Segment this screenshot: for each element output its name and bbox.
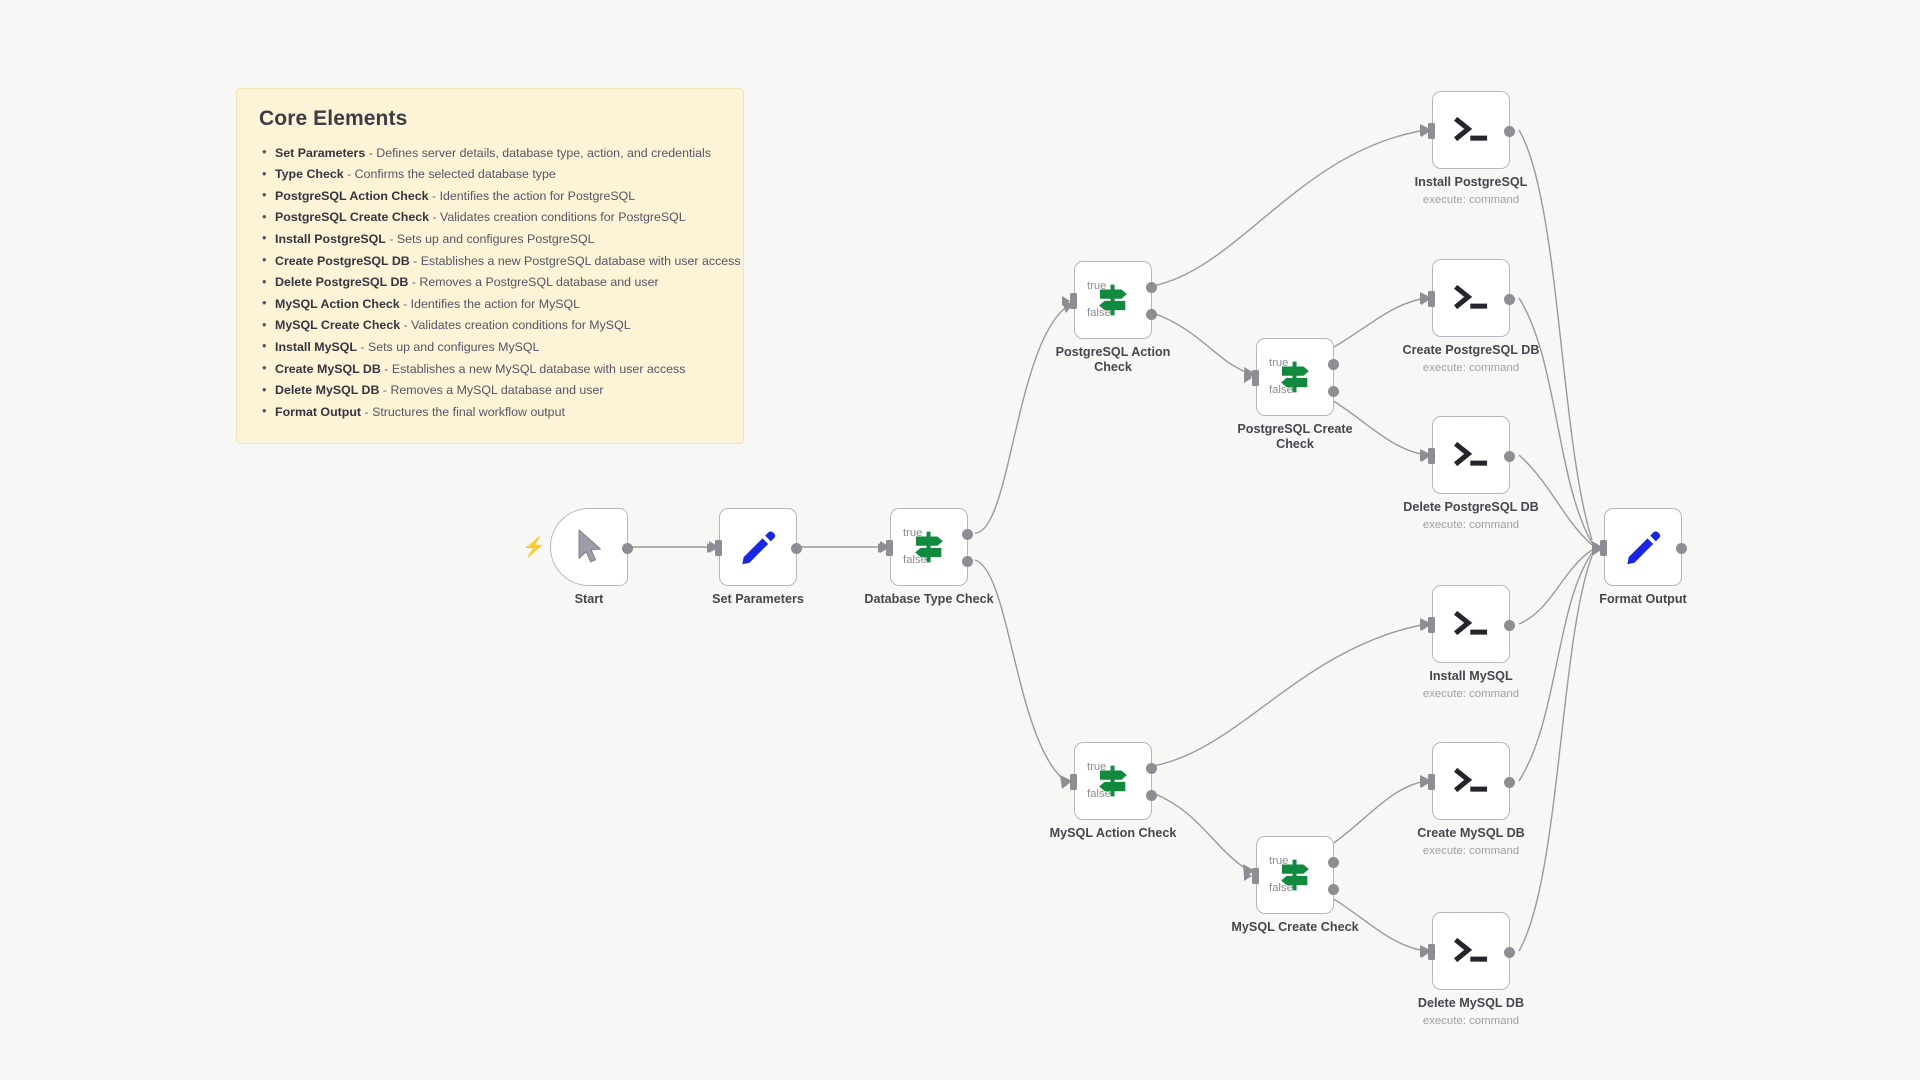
node-format-output[interactable]: Format Output — [1604, 508, 1682, 586]
node-delete-postgresql-db-label: Delete PostgreSQL DB — [1403, 500, 1539, 515]
node-delete-postgresql-db-subtitle: execute: command — [1423, 519, 1519, 531]
pencil-icon — [1623, 527, 1663, 567]
node-database-type-check-box[interactable]: true false — [890, 508, 968, 586]
node-delete-mysql-db[interactable]: Delete MySQL DB execute: command — [1432, 912, 1510, 990]
port-label-false: false — [1269, 882, 1293, 894]
node-install-postgresql[interactable]: Install PostgreSQL execute: command — [1432, 91, 1510, 169]
port-label-true: true — [1087, 280, 1106, 292]
output-port-true[interactable] — [1146, 282, 1157, 293]
node-format-output-label: Format Output — [1599, 592, 1686, 607]
node-mysql-action-check-box[interactable]: true false — [1074, 742, 1152, 820]
node-delete-postgresql-db-box[interactable] — [1432, 416, 1510, 494]
node-postgresql-create-check-label: PostgreSQL Create Check — [1236, 422, 1354, 452]
node-postgresql-action-check[interactable]: true false PostgreSQL Action Check — [1074, 261, 1152, 339]
node-delete-postgresql-db[interactable]: Delete PostgreSQL DB execute: command — [1432, 416, 1510, 494]
output-port-true[interactable] — [1146, 763, 1157, 774]
port-label-false: false — [1087, 307, 1111, 319]
port-label-false: false — [903, 554, 927, 566]
port-label-true: true — [1087, 761, 1106, 773]
node-set-parameters-label: Set Parameters — [712, 592, 804, 607]
node-create-mysql-db-box[interactable] — [1432, 742, 1510, 820]
node-database-type-check[interactable]: true false Database Type Check — [890, 508, 968, 586]
node-create-postgresql-db-subtitle: execute: command — [1423, 362, 1519, 374]
port-label-true: true — [1269, 357, 1288, 369]
node-delete-mysql-db-subtitle: execute: command — [1423, 1015, 1519, 1027]
node-postgresql-action-check-box[interactable]: true false — [1074, 261, 1152, 339]
node-postgresql-create-check[interactable]: true false PostgreSQL Create Check — [1256, 338, 1334, 416]
input-port[interactable] — [1070, 293, 1077, 309]
input-port[interactable] — [1252, 370, 1259, 386]
input-port[interactable] — [1600, 540, 1607, 556]
input-port[interactable] — [1252, 868, 1259, 884]
node-database-type-check-label: Database Type Check — [864, 592, 993, 607]
input-port[interactable] — [715, 540, 722, 556]
node-install-postgresql-box[interactable] — [1432, 91, 1510, 169]
node-install-mysql-subtitle: execute: command — [1423, 688, 1519, 700]
terminal-icon — [1450, 438, 1492, 472]
input-port[interactable] — [1070, 774, 1077, 790]
output-port-false[interactable] — [1328, 884, 1339, 895]
node-postgresql-action-check-label: PostgreSQL Action Check — [1054, 345, 1172, 375]
output-port[interactable] — [1504, 947, 1515, 958]
node-mysql-action-check[interactable]: true false MySQL Action Check — [1074, 742, 1152, 820]
node-postgresql-create-check-box[interactable]: true false — [1256, 338, 1334, 416]
output-port[interactable] — [1504, 620, 1515, 631]
node-create-mysql-db-label: Create MySQL DB — [1417, 826, 1525, 841]
port-label-false: false — [1269, 384, 1293, 396]
node-mysql-create-check[interactable]: true false MySQL Create Check — [1256, 836, 1334, 914]
input-port[interactable] — [1428, 291, 1435, 307]
port-label-false: false — [1087, 788, 1111, 800]
node-create-mysql-db-subtitle: execute: command — [1423, 845, 1519, 857]
node-set-parameters[interactable]: Set Parameters — [719, 508, 797, 586]
terminal-icon — [1450, 281, 1492, 315]
node-create-postgresql-db-box[interactable] — [1432, 259, 1510, 337]
terminal-icon — [1450, 764, 1492, 798]
output-port-false[interactable] — [1328, 386, 1339, 397]
terminal-icon — [1450, 113, 1492, 147]
terminal-icon — [1450, 607, 1492, 641]
output-port[interactable] — [1676, 543, 1687, 554]
trigger-bolt-icon: ⚡ — [522, 538, 546, 557]
output-port[interactable] — [791, 543, 802, 554]
output-port[interactable] — [622, 543, 633, 554]
input-port[interactable] — [1428, 123, 1435, 139]
output-port[interactable] — [1504, 777, 1515, 788]
node-set-parameters-box[interactable] — [719, 508, 797, 586]
port-label-true: true — [1269, 855, 1288, 867]
node-install-mysql-label: Install MySQL — [1429, 669, 1512, 684]
input-port[interactable] — [1428, 617, 1435, 633]
node-start[interactable]: ⚡ Start — [550, 508, 628, 586]
output-port[interactable] — [1504, 294, 1515, 305]
workflow-canvas[interactable]: Core Elements Set Parameters - Defines s… — [0, 0, 1920, 1080]
node-install-mysql[interactable]: Install MySQL execute: command — [1432, 585, 1510, 663]
node-mysql-create-check-label: MySQL Create Check — [1231, 920, 1358, 935]
node-mysql-create-check-box[interactable]: true false — [1256, 836, 1334, 914]
output-port-false[interactable] — [1146, 309, 1157, 320]
input-port[interactable] — [1428, 944, 1435, 960]
cursor-icon — [572, 527, 606, 567]
input-port[interactable] — [886, 540, 893, 556]
node-install-postgresql-label: Install PostgreSQL — [1415, 175, 1528, 190]
port-label-true: true — [903, 527, 922, 539]
pencil-icon — [738, 527, 778, 567]
node-delete-mysql-db-box[interactable] — [1432, 912, 1510, 990]
node-create-postgresql-db[interactable]: Create PostgreSQL DB execute: command — [1432, 259, 1510, 337]
output-port[interactable] — [1504, 451, 1515, 462]
node-delete-mysql-db-label: Delete MySQL DB — [1418, 996, 1524, 1011]
node-create-mysql-db[interactable]: Create MySQL DB execute: command — [1432, 742, 1510, 820]
node-mysql-action-check-label: MySQL Action Check — [1050, 826, 1177, 841]
output-port-false[interactable] — [1146, 790, 1157, 801]
node-install-postgresql-subtitle: execute: command — [1423, 194, 1519, 206]
node-start-box[interactable] — [550, 508, 628, 586]
output-port-true[interactable] — [1328, 359, 1339, 370]
node-install-mysql-box[interactable] — [1432, 585, 1510, 663]
input-port[interactable] — [1428, 448, 1435, 464]
output-port-true[interactable] — [1328, 857, 1339, 868]
output-port-true[interactable] — [962, 529, 973, 540]
node-start-label: Start — [575, 592, 604, 607]
output-port[interactable] — [1504, 126, 1515, 137]
node-format-output-box[interactable] — [1604, 508, 1682, 586]
terminal-icon — [1450, 934, 1492, 968]
output-port-false[interactable] — [962, 556, 973, 567]
node-create-postgresql-db-label: Create PostgreSQL DB — [1403, 343, 1540, 358]
input-port[interactable] — [1428, 774, 1435, 790]
